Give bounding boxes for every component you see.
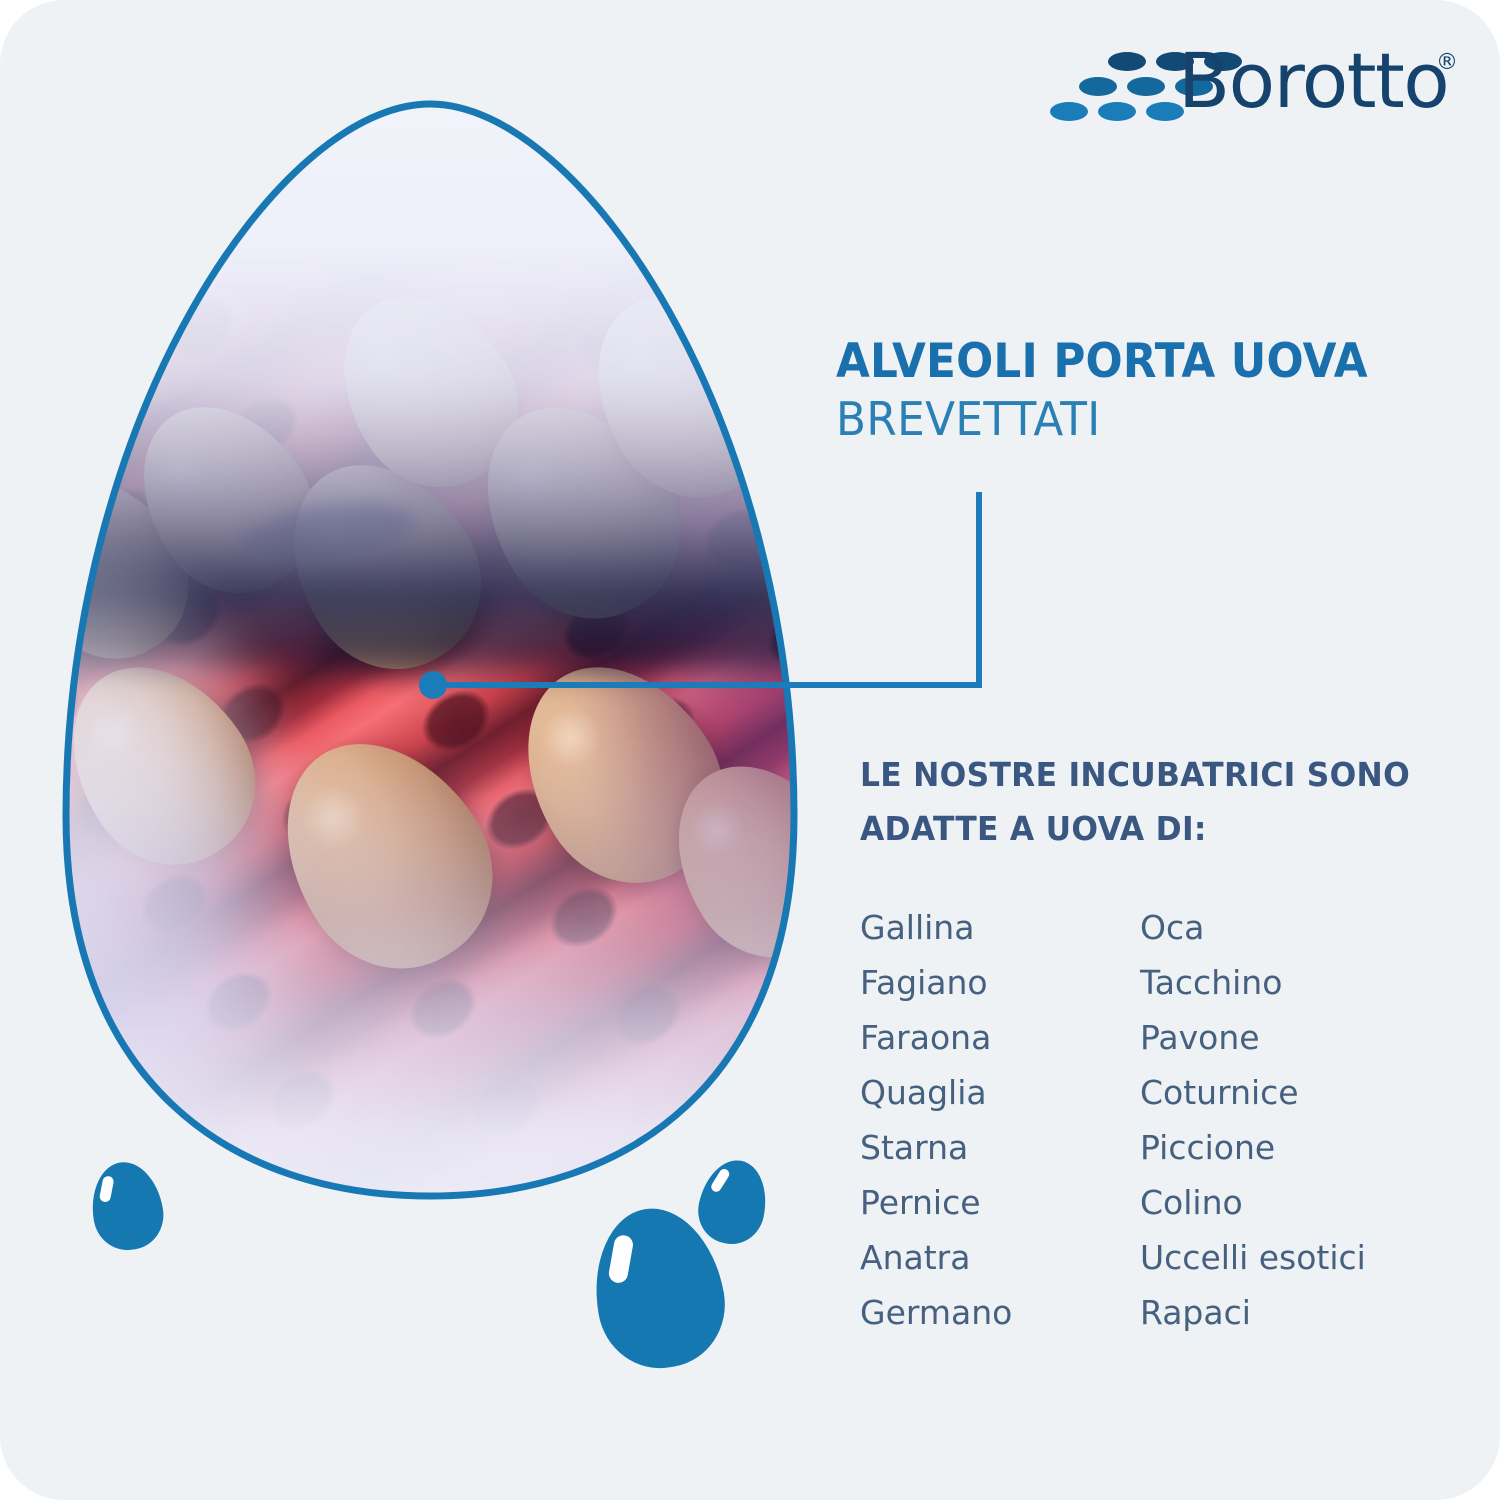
species-column-left: Gallina Fagiano Faraona Quaglia Starna P…	[860, 900, 1140, 1340]
list-item: Faraona	[860, 1010, 1140, 1065]
list-item: Pernice	[860, 1175, 1140, 1230]
list-item: Oca	[1140, 900, 1440, 955]
list-item: Tacchino	[1140, 955, 1440, 1010]
list-item: Coturnice	[1140, 1065, 1440, 1120]
list-item: Piccione	[1140, 1120, 1440, 1175]
list-item: Anatra	[860, 1230, 1140, 1285]
species-intro-heading: LE NOSTRE INCUBATRICI SONO ADATTE A UOVA…	[860, 748, 1430, 856]
list-item: Germano	[860, 1285, 1140, 1340]
list-item: Uccelli esotici	[1140, 1230, 1440, 1285]
infographic-card: Borotto ®	[0, 0, 1500, 1500]
list-item: Colino	[1140, 1175, 1440, 1230]
brand-logo: Borotto ®	[1050, 44, 1450, 130]
list-item: Starna	[860, 1120, 1140, 1175]
headline-block: ALVEOLI PORTA UOVA BREVETTATI	[836, 334, 1476, 448]
list-item: Quaglia	[860, 1065, 1140, 1120]
list-item: Fagiano	[860, 955, 1140, 1010]
nine-ellipse-grid-icon	[1050, 52, 1182, 120]
egg-shaped-photo-figure	[62, 100, 798, 1200]
species-intro-line-2: ADATTE A UOVA DI:	[860, 802, 1430, 856]
list-item: Rapaci	[1140, 1285, 1440, 1340]
page-subtitle: BREVETTATI	[836, 390, 1444, 448]
page-title: ALVEOLI PORTA UOVA	[836, 334, 1431, 390]
species-intro-line-1: LE NOSTRE INCUBATRICI SONO	[860, 748, 1430, 802]
species-list: Gallina Fagiano Faraona Quaglia Starna P…	[860, 900, 1440, 1340]
brand-wordmark: Borotto	[1178, 38, 1448, 124]
egg-tray-photo	[62, 100, 798, 1200]
registered-trademark-icon: ®	[1436, 50, 1458, 75]
list-item: Pavone	[1140, 1010, 1440, 1065]
species-column-right: Oca Tacchino Pavone Coturnice Piccione C…	[1140, 900, 1440, 1340]
list-item: Gallina	[860, 900, 1140, 955]
